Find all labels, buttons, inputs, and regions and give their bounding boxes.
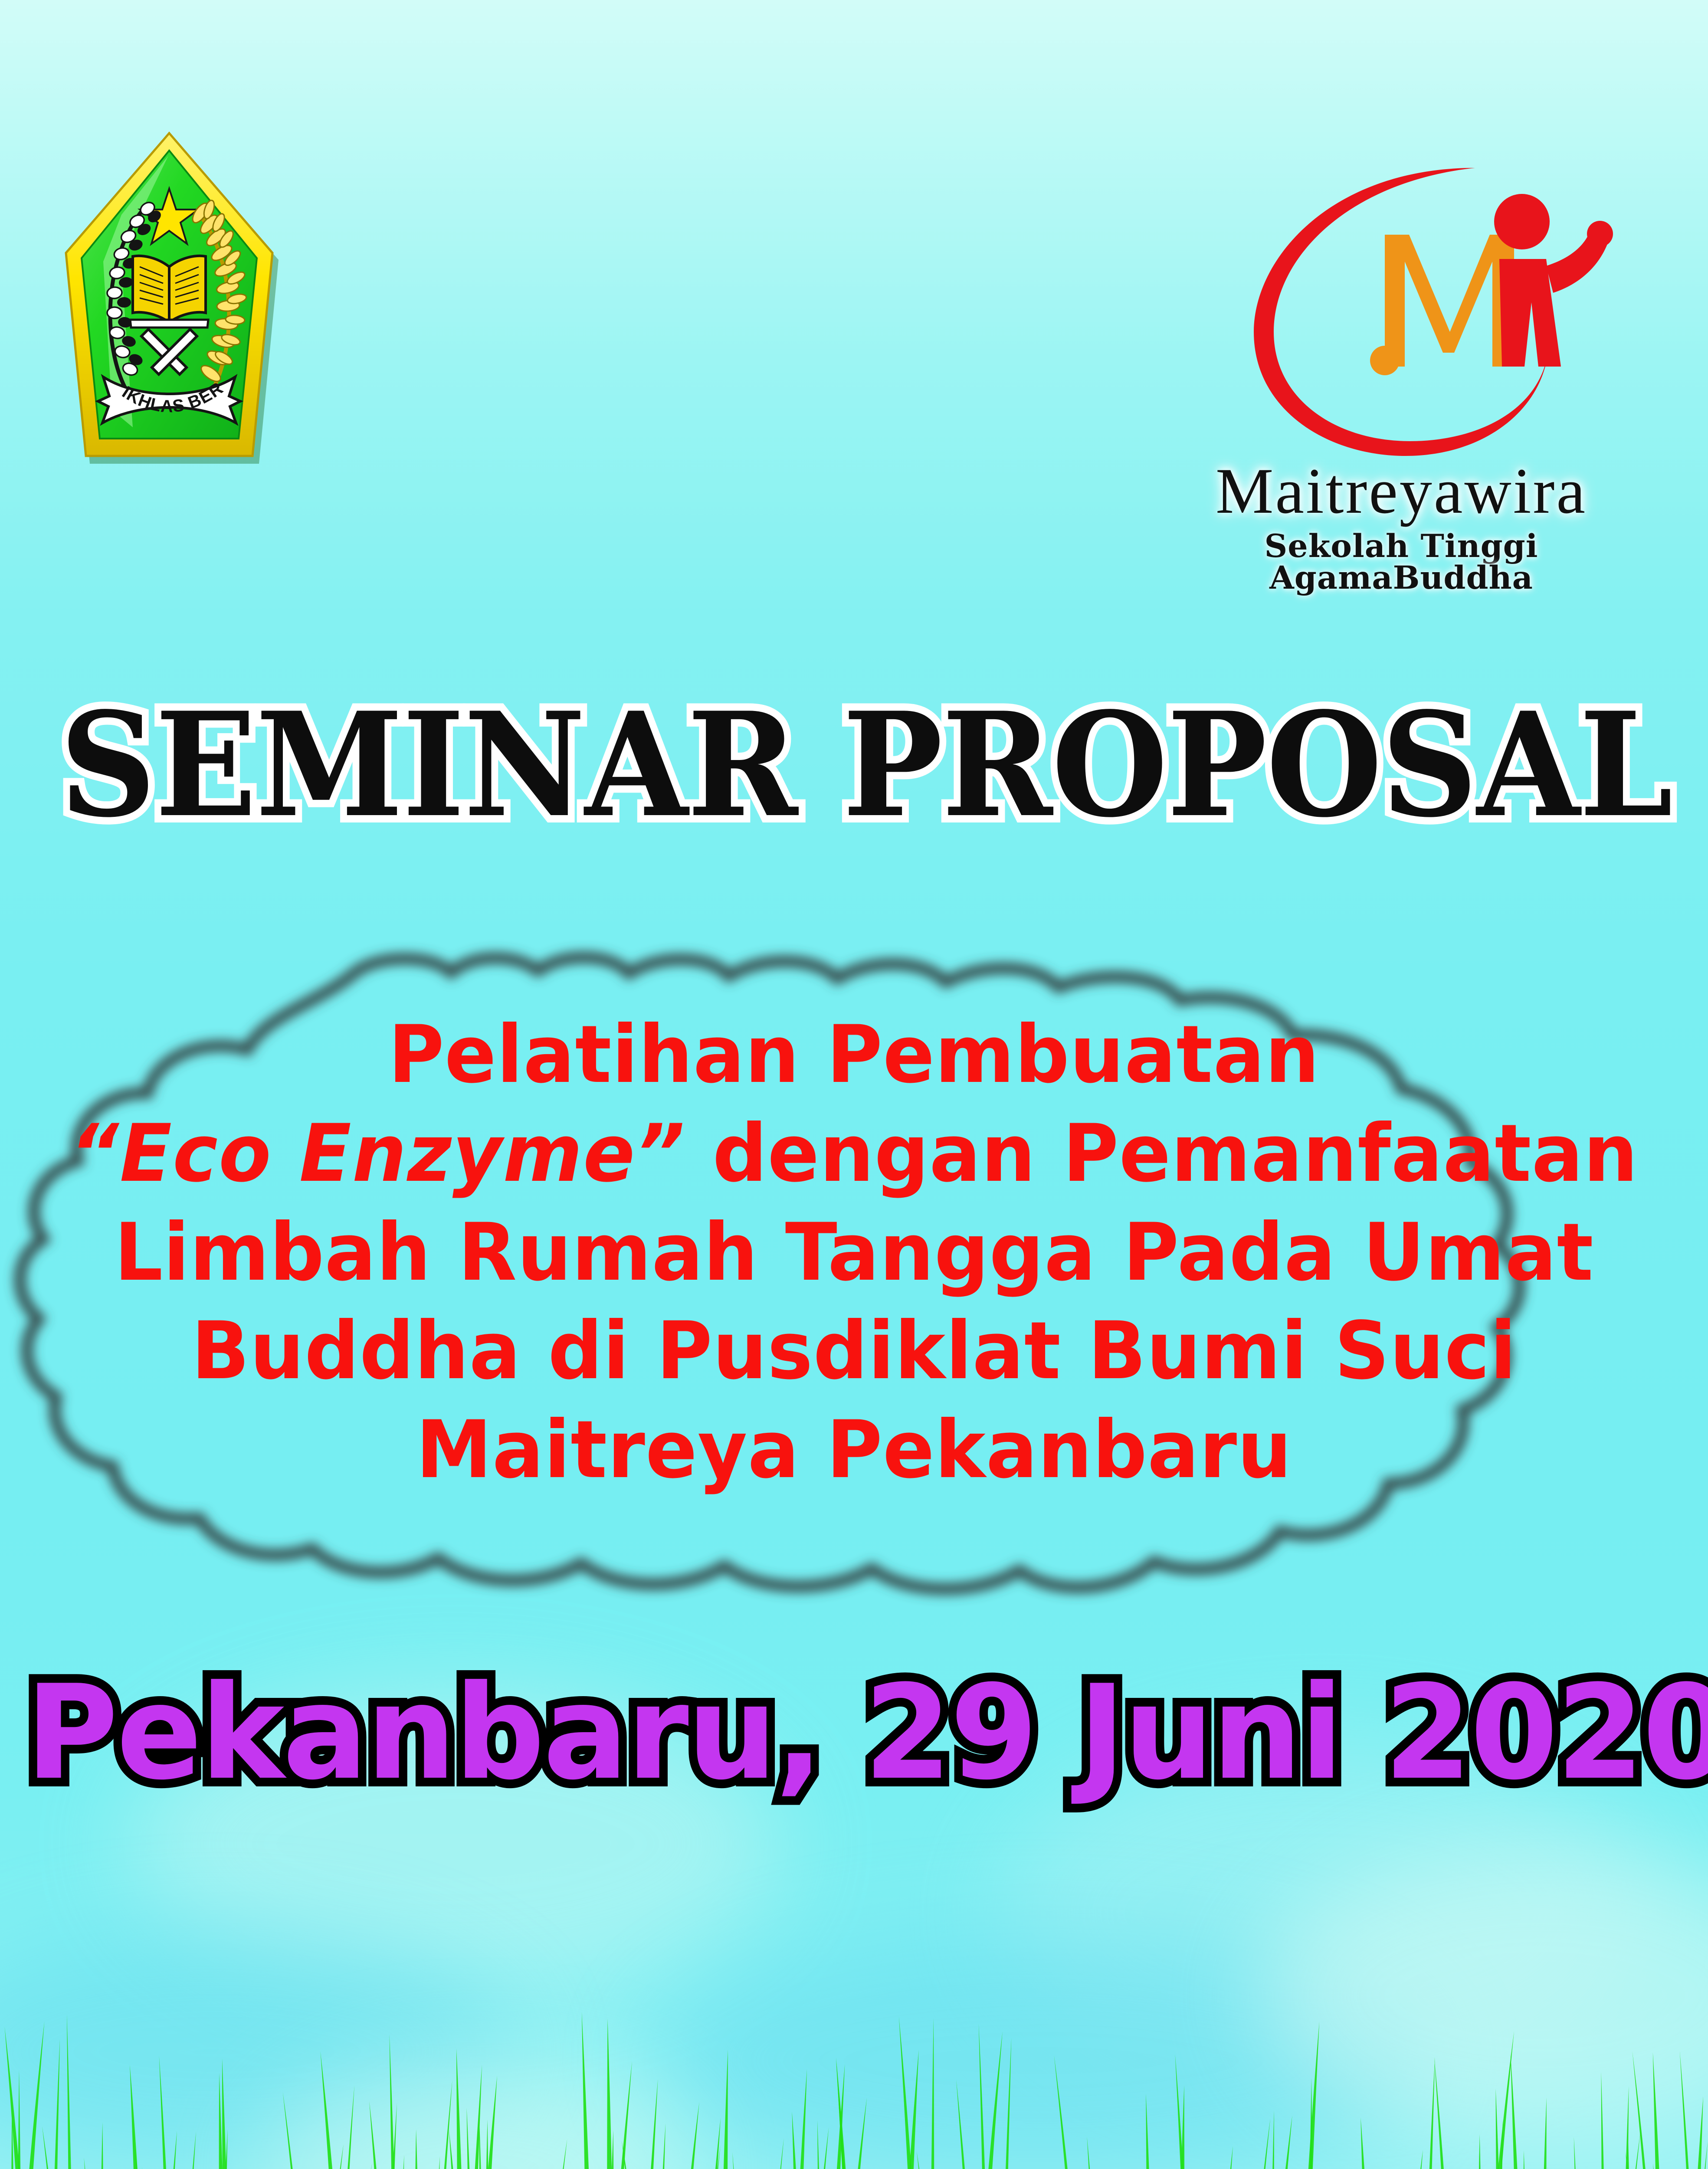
subtitle-line-2-rest: dengan Pemanfaatan xyxy=(685,1107,1638,1200)
subtitle-line-2-italic: “Eco Enzyme” xyxy=(70,1107,685,1200)
maitreyawira-logo: Maitreyawira Sekolah Tinggi AgamaBuddha xyxy=(1189,150,1614,583)
subtitle-line-5: Maitreya Pekanbaru xyxy=(34,1401,1674,1500)
subtitle-line-4: Buddha di Pusdiklat Bumi Suci xyxy=(34,1302,1674,1401)
maitreyawira-mark-icon xyxy=(1189,150,1614,466)
page-title: SEMINAR PROPOSAL TERBATAS xyxy=(60,693,1648,836)
subtitle-line-3: Limbah Rumah Tangga Pada Umat xyxy=(34,1203,1674,1302)
event-date: Pekanbaru, 29 Juni 2020 xyxy=(26,1668,1682,1798)
maitreyawira-subtitle: Sekolah Tinggi AgamaBuddha xyxy=(1189,531,1614,594)
subtitle-line-2: “Eco Enzyme” dengan Pemanfaatan xyxy=(34,1104,1674,1203)
letter-m-icon xyxy=(1370,235,1514,375)
figure-y-icon xyxy=(1494,194,1613,367)
grass-illustration xyxy=(0,1946,1708,2169)
subtitle-block: Pelatihan Pembuatan “Eco Enzyme” dengan … xyxy=(34,1006,1674,1500)
subtitle-line-1: Pelatihan Pembuatan xyxy=(34,1006,1674,1104)
maitreyawira-title: Maitreyawira xyxy=(1189,459,1614,524)
kemenag-logo: IKHLAS BERAMAL xyxy=(56,124,282,475)
poster-canvas: IKHLAS BERAMAL xyxy=(0,0,1708,2169)
